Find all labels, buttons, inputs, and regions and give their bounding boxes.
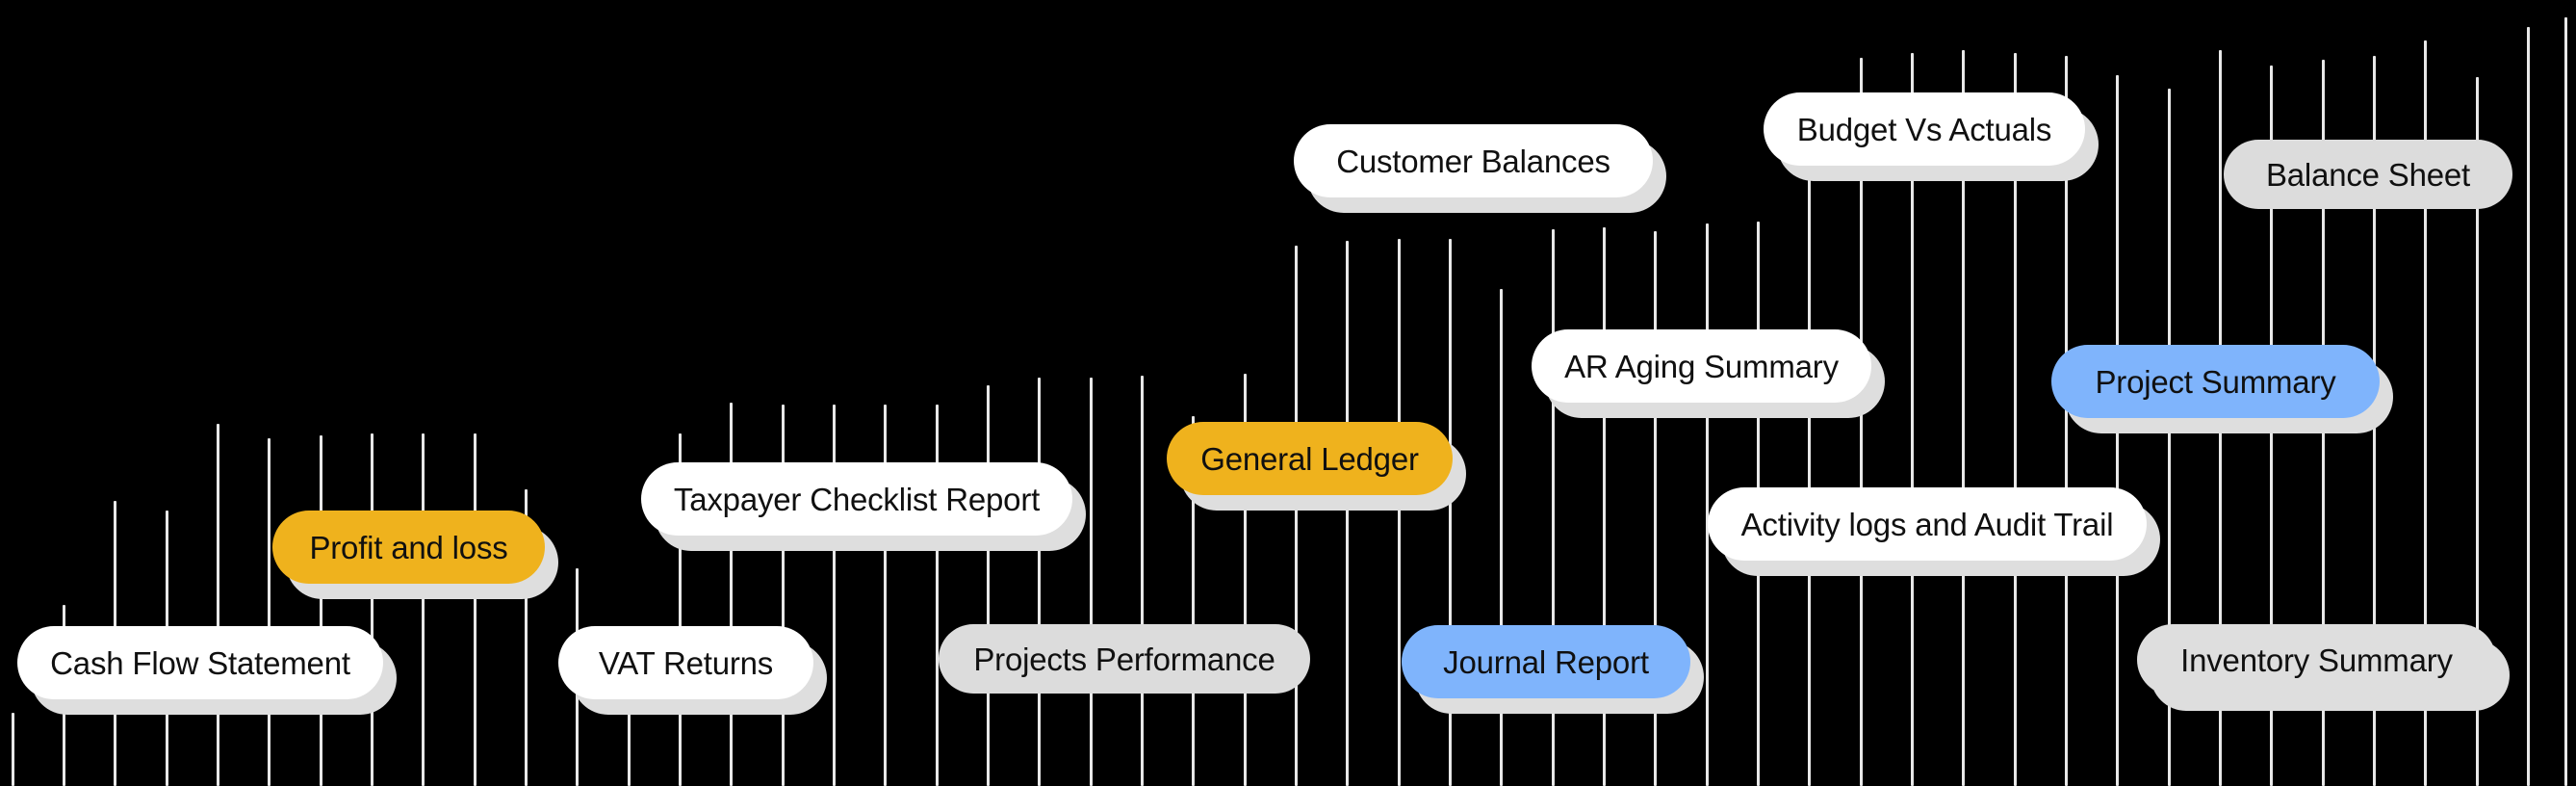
pill-label: Taxpayer Checklist Report (674, 484, 1040, 515)
report-pill[interactable]: Journal Report (1402, 625, 1690, 698)
pill-face[interactable]: Budget Vs Actuals (1764, 92, 2085, 166)
report-pill[interactable]: Projects Performance (939, 624, 1310, 694)
report-pill[interactable]: Cash Flow Statement (17, 626, 383, 699)
pill-label: Journal Report (1443, 646, 1649, 678)
report-pill[interactable]: Profit and loss (272, 511, 545, 584)
pill-label: Activity logs and Audit Trail (1741, 509, 2114, 540)
pill-label: Project Summary (2095, 366, 2335, 398)
pill-label: Balance Sheet (2266, 159, 2470, 191)
pill-face[interactable]: Cash Flow Statement (17, 626, 383, 699)
pill-label: VAT Returns (599, 647, 773, 679)
pill-face[interactable]: Profit and loss (272, 511, 545, 584)
pill-face[interactable]: Inventory Summary (2137, 624, 2496, 695)
report-pill[interactable]: Customer Balances (1294, 124, 1653, 197)
pill-collection: Cash Flow StatementProfit and lossVAT Re… (0, 0, 2576, 786)
pill-label: General Ledger (1200, 443, 1419, 475)
report-pill[interactable]: Balance Sheet (2224, 140, 2512, 209)
pill-label: Projects Performance (973, 643, 1275, 675)
pill-face[interactable]: Journal Report (1402, 625, 1690, 698)
pill-label: Profit and loss (309, 532, 507, 563)
report-pill[interactable]: Inventory Summary (2137, 624, 2496, 695)
report-pill[interactable]: Activity logs and Audit Trail (1708, 487, 2147, 561)
pill-face[interactable]: Customer Balances (1294, 124, 1653, 197)
pill-face[interactable]: Balance Sheet (2224, 140, 2512, 209)
pill-label: Customer Balances (1336, 145, 1610, 177)
pill-face[interactable]: VAT Returns (558, 626, 813, 699)
report-pill[interactable]: Budget Vs Actuals (1764, 92, 2085, 166)
pill-face[interactable]: Project Summary (2051, 345, 2380, 418)
pill-face[interactable]: General Ledger (1167, 422, 1453, 495)
report-pill[interactable]: Project Summary (2051, 345, 2380, 418)
report-pill[interactable]: General Ledger (1167, 422, 1453, 495)
pill-label: Cash Flow Statement (50, 647, 350, 679)
pill-face[interactable]: Taxpayer Checklist Report (641, 462, 1072, 536)
pill-face[interactable]: AR Aging Summary (1532, 329, 1871, 403)
report-pills-board: Cash Flow StatementProfit and lossVAT Re… (0, 0, 2576, 786)
report-pill[interactable]: AR Aging Summary (1532, 329, 1871, 403)
pill-label: Budget Vs Actuals (1797, 114, 2051, 145)
pill-face[interactable]: Projects Performance (939, 624, 1310, 694)
report-pill[interactable]: Taxpayer Checklist Report (641, 462, 1072, 536)
report-pill[interactable]: VAT Returns (558, 626, 813, 699)
pill-label: Inventory Summary (2180, 644, 2453, 676)
pill-face[interactable]: Activity logs and Audit Trail (1708, 487, 2147, 561)
pill-label: AR Aging Summary (1564, 351, 1839, 382)
